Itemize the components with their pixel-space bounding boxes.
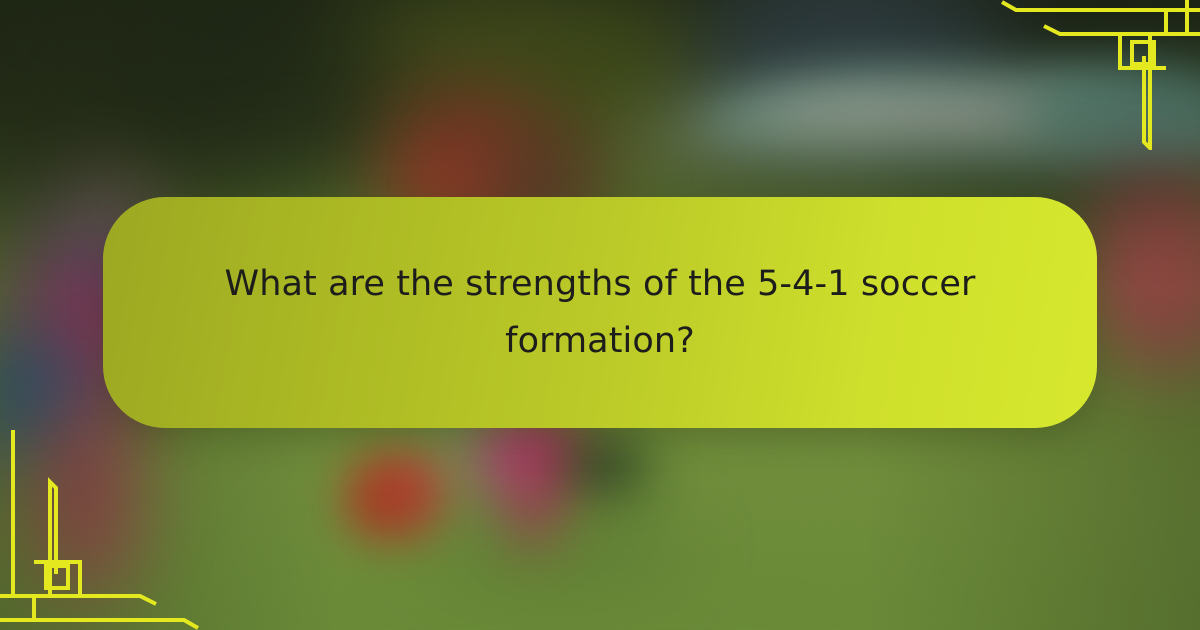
share-card-canvas: What are the strengths of the 5-4-1 socc… [0, 0, 1200, 630]
question-card: What are the strengths of the 5-4-1 socc… [103, 197, 1097, 428]
question-text: What are the strengths of the 5-4-1 socc… [220, 256, 980, 369]
